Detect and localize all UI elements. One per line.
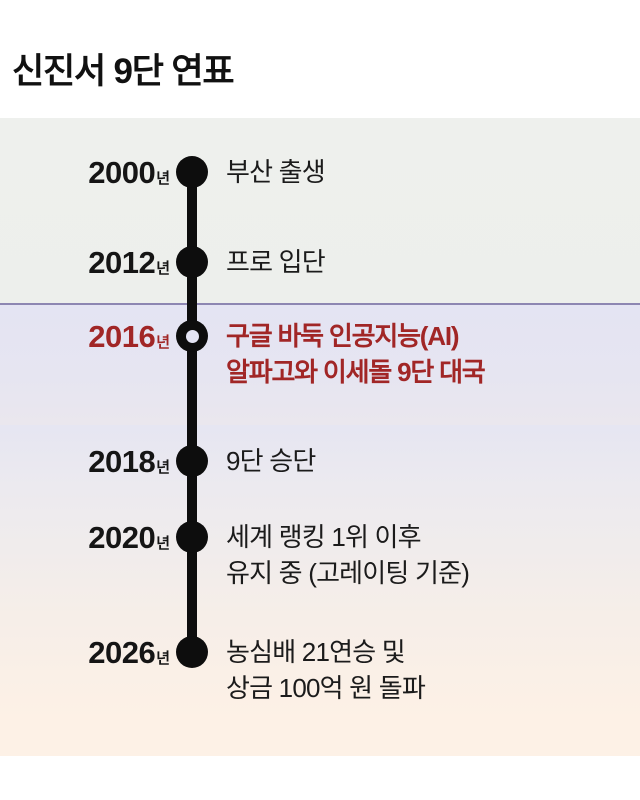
timeline-dot <box>176 445 208 477</box>
timeline-year-suffix: 년 <box>156 650 170 667</box>
timeline-year-number: 2020 <box>88 520 155 555</box>
timeline-event-text: 부산 출생 <box>226 154 632 190</box>
timeline-axis-line <box>187 172 197 652</box>
timeline-event-line: 세계 랭킹 1위 이후 <box>226 519 632 555</box>
timeline-dot <box>176 156 208 188</box>
timeline-year-suffix: 년 <box>156 535 170 552</box>
timeline-dot <box>176 636 208 668</box>
timeline-year-suffix: 년 <box>156 334 170 351</box>
timeline-year-suffix: 년 <box>156 459 170 476</box>
timeline-year-number: 2012 <box>88 245 155 280</box>
timeline-event-line: 구글 바둑 인공지능(AI) <box>226 318 632 354</box>
timeline-dot <box>176 320 208 352</box>
timeline-event-line: 프로 입단 <box>226 244 632 280</box>
timeline-event-text: 구글 바둑 인공지능(AI)알파고와 이세돌 9단 대국 <box>226 318 632 390</box>
timeline-event-line: 상금 100억 원 돌파 <box>226 670 632 706</box>
timeline-event-line: 9단 승단 <box>226 443 632 479</box>
timeline-year-label: 2026년 <box>88 637 170 668</box>
timeline-event-line: 농심배 21연승 및 <box>226 634 632 670</box>
timeline-dot <box>176 521 208 553</box>
timeline-year-number: 2018 <box>88 444 155 479</box>
timeline-year-suffix: 년 <box>156 170 170 187</box>
timeline-year-label: 2020년 <box>88 522 170 553</box>
timeline-dot <box>176 246 208 278</box>
timeline-year-number: 2026 <box>88 635 155 670</box>
timeline-event-text: 프로 입단 <box>226 244 632 280</box>
timeline-event-text: 농심배 21연승 및상금 100억 원 돌파 <box>226 634 632 706</box>
timeline-year-label: 2000년 <box>88 157 170 188</box>
timeline-year-number: 2016 <box>88 319 155 354</box>
timeline-year-number: 2000 <box>88 155 155 190</box>
timeline-event-text: 세계 랭킹 1위 이후유지 중 (고레이팅 기준) <box>226 519 632 591</box>
timeline-event-line: 유지 중 (고레이팅 기준) <box>226 555 632 591</box>
timeline-year-label: 2018년 <box>88 446 170 477</box>
page-title: 신진서 9단 연표 <box>12 54 233 89</box>
timeline-year-suffix: 년 <box>156 260 170 277</box>
header: 신진서 9단 연표 <box>0 0 640 118</box>
timeline-event-text: 9단 승단 <box>226 443 632 479</box>
timeline-year-label: 2012년 <box>88 247 170 278</box>
timeline-event-line: 알파고와 이세돌 9단 대국 <box>226 354 632 390</box>
timeline-year-label: 2016년 <box>88 321 170 352</box>
highlight-divider-rule <box>0 303 640 305</box>
timeline-event-line: 부산 출생 <box>226 154 632 190</box>
